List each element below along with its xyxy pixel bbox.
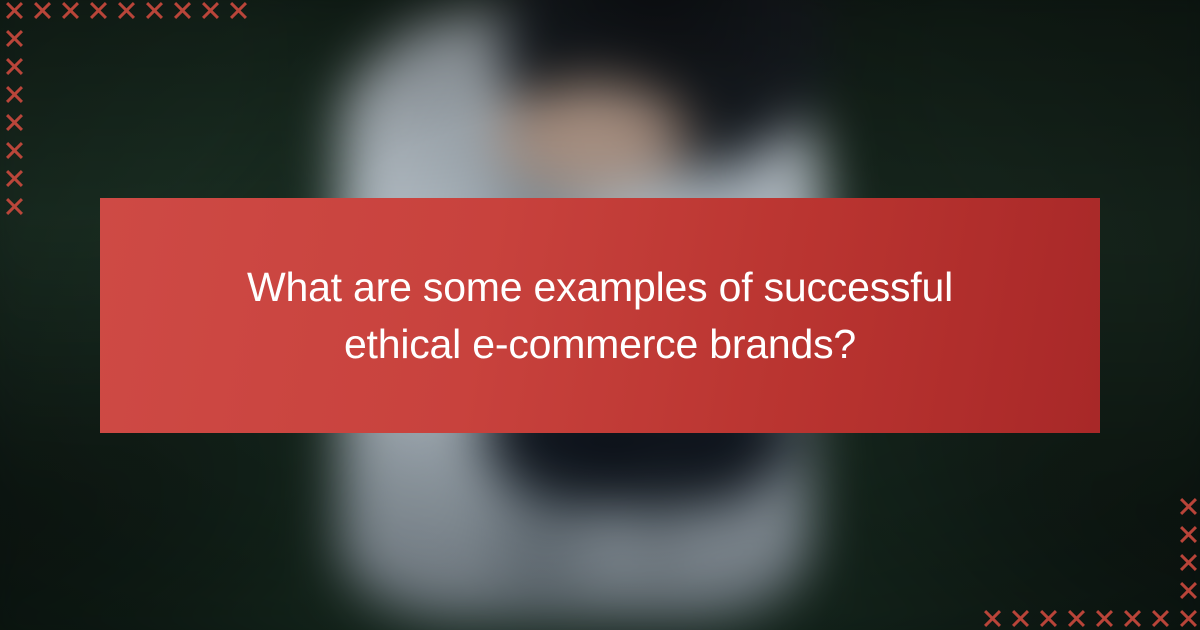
question-text: What are some examples of successful eth… xyxy=(210,259,990,372)
question-card: What are some examples of successful eth… xyxy=(0,0,1200,630)
question-banner: What are some examples of successful eth… xyxy=(100,198,1100,433)
